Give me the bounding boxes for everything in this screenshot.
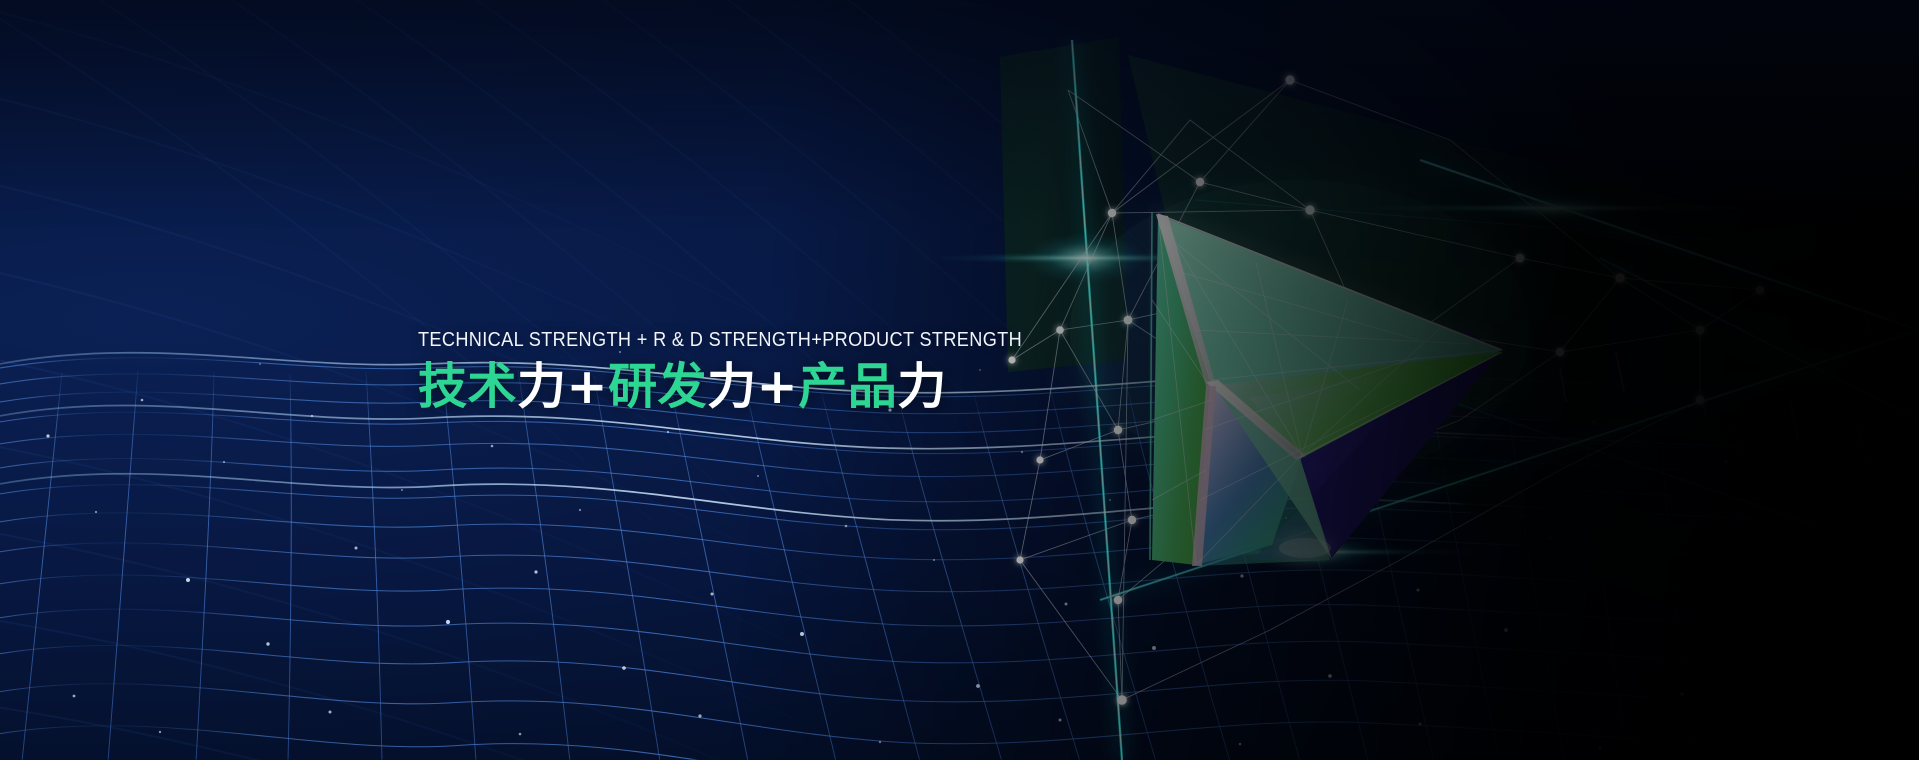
title-segment-5: +	[757, 358, 799, 415]
title-segment-7: 力	[897, 358, 947, 415]
title-segment-1: 力	[517, 358, 567, 415]
title-segment-3: 研发	[608, 358, 707, 415]
headline-title: 技术力+研发力+产品力	[418, 362, 1038, 413]
title-segment-0: 技术	[418, 358, 517, 415]
title-segment-4: 力	[707, 358, 757, 415]
title-segment-2: +	[567, 358, 609, 415]
headline-block: TECHNICAL STRENGTH + R & D STRENGTH+PROD…	[418, 330, 1038, 412]
headline-eyebrow: TECHNICAL STRENGTH + R & D STRENGTH+PROD…	[418, 330, 967, 351]
hero-banner: TECHNICAL STRENGTH + R & D STRENGTH+PROD…	[0, 0, 1919, 760]
title-segment-6: 产品	[798, 358, 897, 415]
